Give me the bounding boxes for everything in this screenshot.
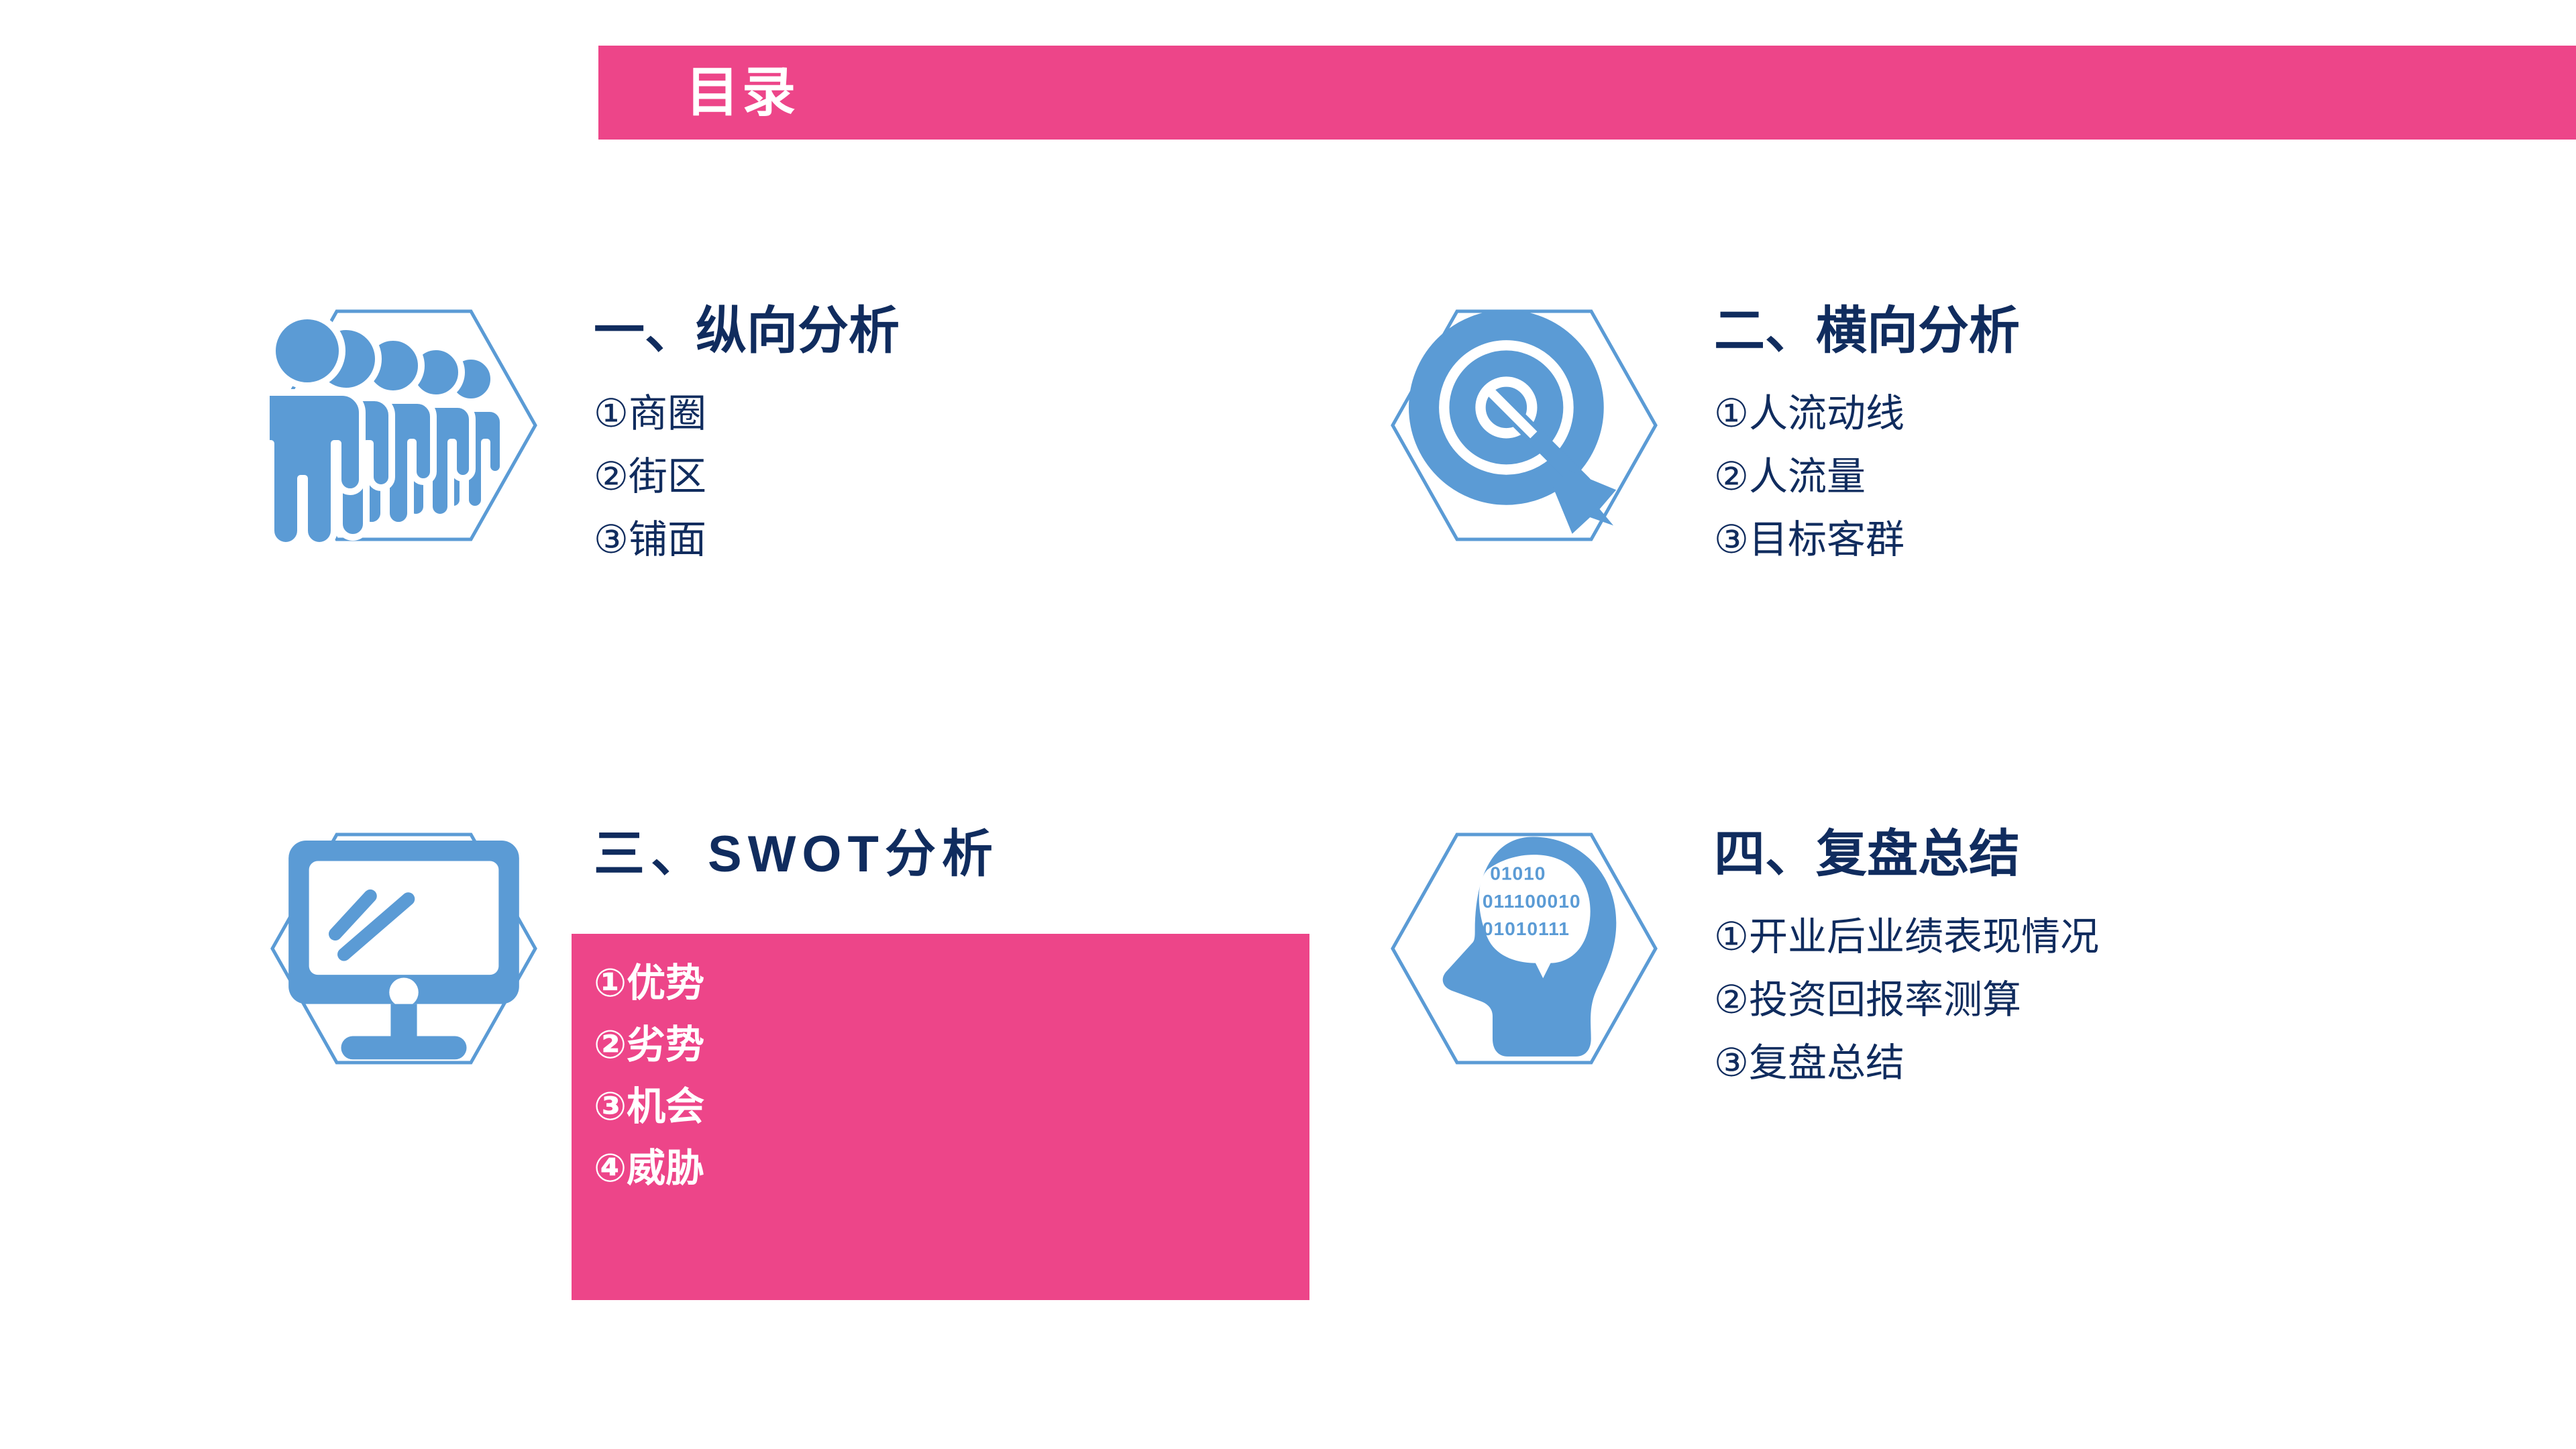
list-item: ②人流量 [1714,445,2576,508]
title-banner: 目录 [598,46,2576,140]
hexagon-frame-3 [270,832,538,1065]
monitor-icon [270,832,538,1065]
hexagon-frame-1 [270,309,538,542]
list-item: ④威胁 [594,1138,704,1199]
list-item: ③机会 [594,1076,704,1138]
list-item: ①优势 [594,953,704,1014]
hexagon-frame-2 [1390,309,1658,542]
section-list-4: ①开业后业绩表现情况 ②投资回报率测算 ③复盘总结 [1714,881,2576,1095]
hexagon-frame-4: 01010 011100010 01010111 [1390,832,1658,1065]
list-item: ①开业后业绩表现情况 [1714,906,2576,969]
list-item: ③复盘总结 [1714,1032,2576,1095]
head-binary-icon: 01010 011100010 01010111 [1390,832,1658,1065]
people-group-icon [270,309,538,542]
section-list-2: ①人流动线 ②人流量 ③目标客群 [1714,358,2576,572]
section-list-swot: ①优势 ②劣势 ③机会 ④威胁 [594,934,704,1199]
swot-highlight-block: ①优势 ②劣势 ③机会 ④威胁 [572,934,1309,1300]
section-heading-4: 四、复盘总结 [1714,812,2576,881]
svg-text:011100010: 011100010 [1483,890,1581,912]
target-arrow-icon [1390,309,1658,542]
list-item: ①人流动线 [1714,382,2576,445]
section-heading-2: 二、横向分析 [1714,288,2576,358]
section-body-2: 二、横向分析 ①人流动线 ②人流量 ③目标客群 [1714,288,2576,572]
list-item: ②劣势 [594,1014,704,1076]
svg-text:01010: 01010 [1490,862,1546,883]
list-item: ③目标客群 [1714,508,2576,572]
page-title: 目录 [686,66,798,119]
svg-text:01010111: 01010111 [1483,918,1570,939]
section-body-4: 四、复盘总结 ①开业后业绩表现情况 ②投资回报率测算 ③复盘总结 [1714,812,2576,1095]
list-item: ②投资回报率测算 [1714,969,2576,1032]
